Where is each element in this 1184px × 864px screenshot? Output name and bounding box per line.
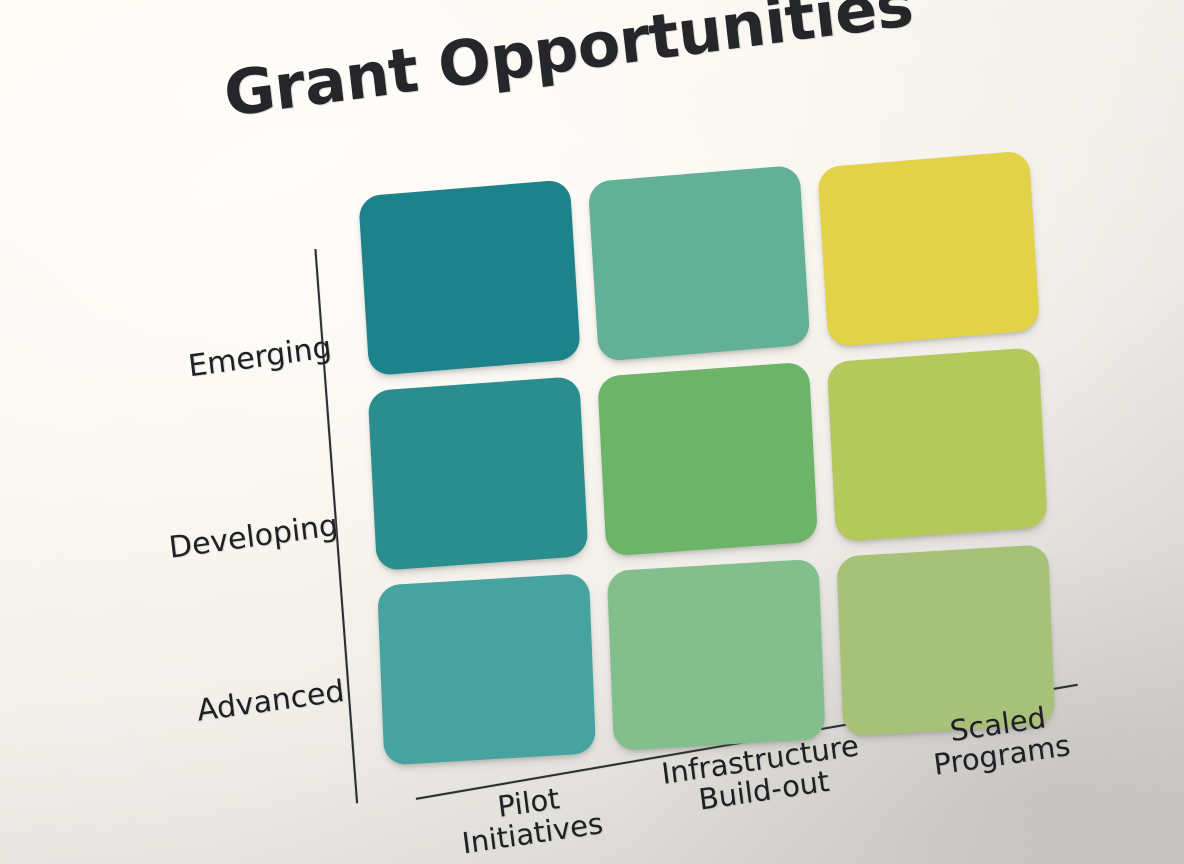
y-tick-label-developing: Developing [167, 508, 340, 566]
heatmap-cell-emerging-pilot-initiatives[interactable] [358, 179, 581, 376]
y-tick-label-advanced: Advanced [195, 674, 346, 729]
plot-area: Grant Opportunities Emerging Developing … [0, 0, 1184, 864]
heatmap-cell-emerging-infrastructure-build-out[interactable] [588, 165, 811, 362]
heatmap-cell-developing-infrastructure-build-out[interactable] [597, 362, 818, 557]
figure-canvas: Grant Opportunities Emerging Developing … [0, 0, 1184, 864]
y-axis-tick-labels: Emerging Developing Advanced [0, 16, 351, 864]
heatmap-grid [360, 152, 1056, 766]
heatmap-cell-emerging-scaled-programs[interactable] [817, 150, 1040, 347]
heatmap-cell-advanced-infrastructure-build-out[interactable] [607, 559, 826, 751]
heatmap-cell-advanced-pilot-initiatives[interactable] [377, 573, 596, 765]
heatmap-cell-developing-scaled-programs[interactable] [827, 347, 1048, 542]
y-tick-label-emerging: Emerging [187, 330, 334, 384]
x-tick-label-pilot-initiatives: Pilot Initiatives [413, 771, 649, 864]
heatmap-cell-developing-pilot-initiatives[interactable] [368, 376, 589, 571]
